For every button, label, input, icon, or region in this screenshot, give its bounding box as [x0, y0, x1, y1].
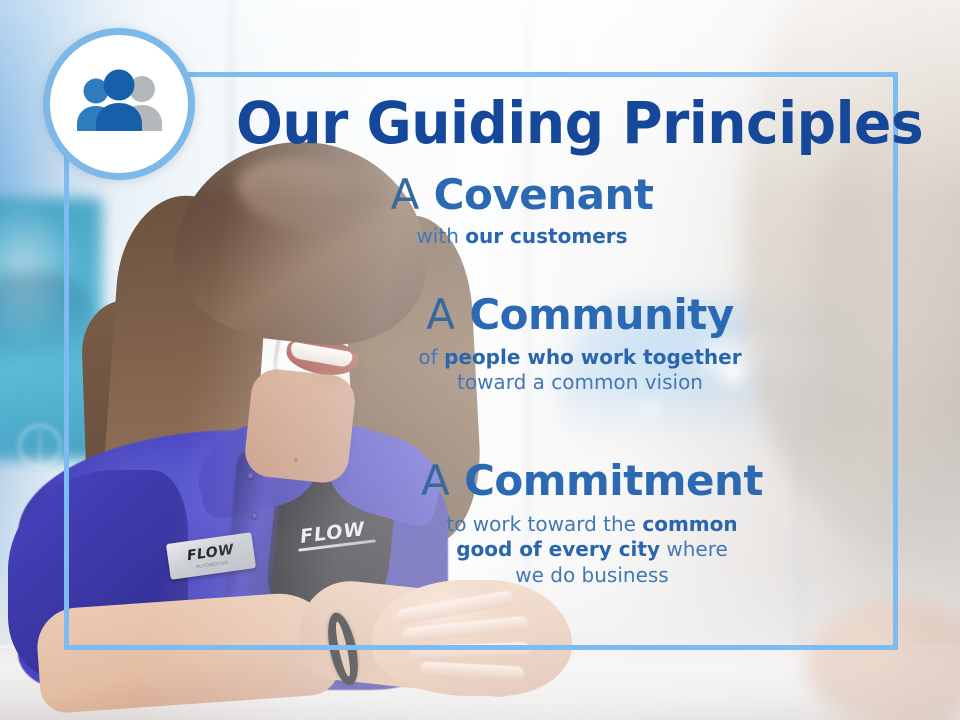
forearm-left [35, 590, 342, 715]
bokeh-light [636, 394, 666, 424]
banner-graphic: FLOW AUTOMOTIVE FLOW Our Guiding Princip… [0, 0, 960, 720]
group-of-people-icon [70, 69, 168, 139]
people-badge [43, 28, 195, 180]
bokeh-light [714, 352, 754, 392]
shirt-button [251, 512, 258, 519]
skin-mark [294, 458, 298, 462]
teeth [289, 342, 353, 369]
blurred-customer-hair [812, 120, 952, 520]
shirt-button [247, 472, 254, 479]
